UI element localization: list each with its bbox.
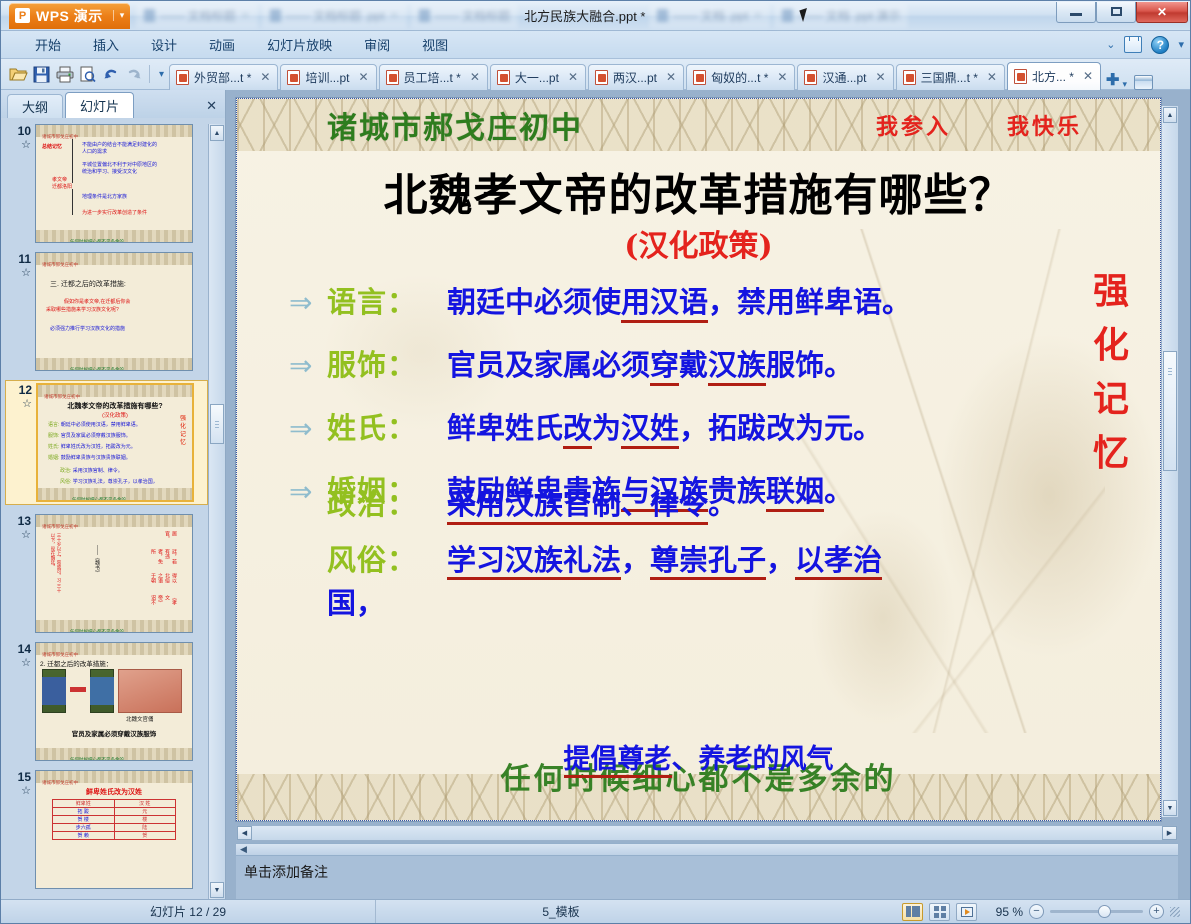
status-view-controls: 95 % − + — [902, 903, 1190, 921]
thumb-14-heading: 2. 迁都之后的改革措施： — [40, 658, 112, 668]
powerpoint-file-icon — [903, 70, 916, 85]
thumb-10-line-5: 为进一步实行改革创造了条件 — [82, 209, 147, 216]
navigator-tab-strip: 大纲 幻灯片 ✕ — [1, 90, 225, 118]
notes-placeholder[interactable]: 单击添加备注 — [236, 856, 1178, 899]
underlined-phrase: 穿 — [650, 348, 679, 386]
thumbnail-11-number: 11 — [18, 252, 31, 266]
thumbnail-15-preview[interactable]: 诸城市郝戈庄初中 鲜卑姓氏改为汉姓 鲜卑姓 汉 姓 拓 跋 — [35, 770, 193, 889]
background-tab-3[interactable]: —— 文档标题 — [411, 4, 518, 28]
thumb-15-r0c0: 拓 跋 — [53, 808, 115, 815]
thumbnail-14-preview[interactable]: 诸城市郝戈庄初中 2. 迁都之后的改革措施： 北魏文官俑 官员及家 — [35, 642, 193, 761]
thumbnail-10-number: 10 — [18, 124, 31, 138]
scroll-left-icon[interactable]: ◀ — [237, 826, 252, 840]
status-template-name: 5_模板 — [376, 900, 746, 923]
thumb-15-heading: 鲜卑姓氏改为汉姓 — [36, 787, 192, 797]
close-icon[interactable]: ✕ — [564, 70, 578, 84]
collapse-left-icon[interactable]: ◀ — [240, 844, 247, 855]
bullet-row-surname[interactable]: ⇒ 姓氏： 鲜卑姓氏改为汉姓，拓跋改为元。 — [289, 405, 1040, 447]
thumb-band-school: 诸城市郝戈庄初中 — [36, 262, 78, 267]
doc-tab-5[interactable]: 匈奴的...t * ✕ — [686, 64, 795, 90]
vertical-char-1: 化 — [1093, 324, 1129, 366]
thumbnail-13-meta: 13 ☆ — [5, 514, 35, 542]
new-document-caret-icon[interactable]: ▾ — [1122, 79, 1131, 90]
slide-plain-rows[interactable]: 政治： 采用汉族官制、律令。 风俗： 学习汉族礼法，尊崇孔子，以孝治 国， — [289, 481, 1040, 636]
bullet-label-clothing: 服饰： — [327, 342, 447, 384]
toolbar-overflow-icon[interactable]: ▾ — [154, 69, 169, 80]
background-tab-4[interactable]: —— 文档 .ppt ✕ — [649, 4, 770, 28]
zoom-in-button[interactable]: + — [1149, 904, 1164, 919]
thumb-15-r1c1: 楼 — [115, 816, 176, 823]
vertical-char-0: 强 — [1093, 270, 1129, 312]
thumb-band-bottom: 任何时候细心都不是多余的 — [38, 488, 192, 500]
background-window-tabs: —— 文档标题 ✕ —— 文档标题 .ppt ✕ —— 文档标题 北方民族大融合… — [130, 3, 1056, 29]
wps-badge-icon: P — [15, 8, 30, 23]
background-tab-2[interactable]: —— 文档标题 .ppt ✕ — [262, 4, 407, 28]
row-label-custom: 风俗： — [327, 537, 447, 579]
thumb-12-row-4-text: 采用汉族官制、律令。 — [73, 468, 123, 474]
thumbnail-item-12-selected[interactable]: 12 ☆ 诸城市郝戈庄初中 北魏孝文帝的改革措施有哪些? (汉化政策) 语言: … — [5, 380, 208, 505]
thumb-10-line-4: 地理条件是北方家族 — [82, 193, 127, 200]
animation-star-icon: ☆ — [6, 397, 32, 411]
zoom-slider[interactable] — [1050, 910, 1143, 913]
background-tab-2-label: —— 文档标题 .ppt — [286, 7, 385, 24]
thumb-15-r0c1: 元 — [115, 808, 176, 815]
powerpoint-file-icon — [1014, 69, 1027, 84]
close-icon[interactable]: ✕ — [753, 9, 762, 22]
close-icon[interactable]: ✕ — [983, 70, 997, 84]
animation-star-icon: ☆ — [5, 138, 31, 152]
slide-footer-blue-text[interactable]: 提倡尊老、养老的风气 — [237, 737, 1160, 776]
close-button[interactable]: ✕ — [1136, 2, 1188, 23]
thumbnail-13-number: 13 — [18, 514, 31, 528]
thumb-15-r2c1: 陆 — [115, 824, 176, 831]
slide-sorter-icon[interactable] — [929, 903, 950, 921]
bullet-text-language: 朝廷中必须使用汉语，禁用鲜卑语。 — [447, 279, 911, 321]
slide-canvas-area: 诸城市郝戈庄初中 我参入 我快乐 北魏孝文帝的改革措施有哪些？ (汉化政策) ⇒… — [226, 90, 1190, 825]
normal-view-icon[interactable] — [902, 903, 923, 921]
underlined-phrase: 改 — [563, 411, 592, 449]
thumb-12-row-0-text: 朝廷中必须使用汉语，禁用鲜卑语。 — [61, 422, 141, 428]
background-tab-1-label: —— 文档标题 — [160, 7, 235, 24]
vertical-char-3: 忆 — [1093, 432, 1129, 474]
thumbnail-item-15[interactable]: 15 ☆ 诸城市郝戈庄初中 鲜卑姓氏改为汉姓 — [5, 770, 208, 889]
scroll-up-icon[interactable]: ▲ — [210, 125, 224, 141]
thumbnail-item-11[interactable]: 11 ☆ 诸城市郝戈庄初中 三. 迁都之后的改革措施: 假如你是孝文帝,在迁都后… — [5, 252, 208, 371]
thumb-10-line-3: 统治和学习、接受汉文化 — [82, 168, 137, 175]
thumb-13-col-0: 《孝文帝》诏不 — [150, 595, 178, 607]
thumb-15-r3c0: 贺 赖 — [53, 832, 115, 839]
thumbnail-10-preview[interactable]: 诸城市郝戈庄初中 总结记忆 不能由户的结合不能满足封建化的 人口的需求 平城位置… — [35, 124, 193, 243]
thumb-13-source: ——《魏书》 — [94, 545, 101, 575]
maximize-button[interactable] — [1096, 2, 1136, 23]
quick-access-toolbar-row: ▾ 外贸部...t * ✕ 培训...pt ✕ 员工培...t * ✕ 大一..… — [1, 59, 1190, 90]
thumbnail-12-preview[interactable]: 诸城市郝戈庄初中 北魏孝文帝的改革措施有哪些? (汉化政策) 语言: 朝廷中必须… — [36, 383, 194, 502]
doc-tab-3[interactable]: 大一...pt ✕ — [490, 64, 586, 90]
wps-app-logo-button[interactable]: P WPS 演示 ▾ — [9, 3, 130, 29]
arrow-right-icon: ⇒ — [289, 352, 327, 380]
thumb-14-caption-right: 北魏文官俑 — [126, 715, 154, 723]
thumb-band-bottom: 任何时候细心都不是多余的 — [36, 748, 192, 760]
scroll-up-icon[interactable]: ▲ — [1163, 107, 1177, 123]
scroll-right-icon[interactable]: ▶ — [1162, 826, 1177, 840]
animation-star-icon: ☆ — [5, 266, 31, 280]
thumbnail-item-13[interactable]: 13 ☆ 诸城市郝戈庄初中 《孝文帝》诏不 得以北俗之语于朝 — [5, 514, 208, 633]
thumb-12-row-3-label: 婚姻: — [48, 455, 59, 461]
skin-shirt-icon[interactable] — [1124, 36, 1142, 53]
thumb-14-caption-bottom: 官员及家属必须穿戴汉族服饰 — [36, 728, 192, 738]
window-controls: ✕ — [1056, 1, 1188, 31]
thumb-12-row-3-text: 鼓励鲜卑贵族与汉族贵族联姻。 — [61, 455, 131, 461]
underlined-phrase: 采用汉族官制、律令 — [447, 487, 708, 525]
thumb-10-line-2: 平城位置偏北不利于对中原地区的 — [82, 161, 157, 168]
thumb-band-top: 诸城市郝戈庄初中 — [36, 771, 192, 783]
row-politics[interactable]: 政治： 采用汉族官制、律令。 — [289, 481, 1040, 523]
row-label-politics: 政治： — [327, 481, 447, 523]
menu-item-review[interactable]: 审阅 — [348, 32, 406, 58]
slide-vertical-scrollbar[interactable]: ▲ ▼ — [1161, 106, 1178, 817]
scrollbar-thumb[interactable] — [1163, 351, 1177, 471]
thumb-12-row-2-label: 姓氏: — [48, 444, 59, 450]
thumb-12-row-0-label: 语言: — [48, 422, 59, 428]
bullet-row-language[interactable]: ⇒ 语言： 朝廷中必须使用汉语，禁用鲜卑语。 — [289, 279, 1040, 321]
powerpoint-file-icon — [176, 70, 189, 85]
scroll-down-icon[interactable]: ▼ — [1163, 800, 1177, 816]
slide-editor-stage: 诸城市郝戈庄初中 我参入 我快乐 北魏孝文帝的改革措施有哪些？ (汉化政策) ⇒… — [226, 90, 1190, 899]
thumb-13-col-2: 廷，若有违者，免所 — [150, 549, 178, 565]
title-bar: P WPS 演示 ▾ —— 文档标题 ✕ —— 文档标题 .ppt ✕ —— 文… — [1, 1, 1190, 31]
thumb-15-r2c0: 步六孤 — [53, 824, 115, 831]
menu-item-insert[interactable]: 插入 — [77, 32, 135, 58]
thumb-band-top: 诸城市郝戈庄初中 — [36, 643, 192, 655]
bullet-label-surname: 姓氏： — [327, 405, 447, 447]
thumbnail-12-meta: 12 ☆ — [6, 383, 36, 411]
thumb-15-th-0: 鲜卑姓 — [53, 800, 115, 807]
zoom-level-label: 95 % — [983, 905, 1023, 919]
doc-tab-3-label: 大一...pt — [515, 69, 559, 86]
slide-horizontal-scrollbar[interactable]: ◀ ▶ — [236, 825, 1178, 841]
powerpoint-file-icon — [386, 70, 399, 85]
thumb-15-r3c1: 贺 — [115, 832, 176, 839]
thumb-band-footer: 任何时候细心都不是多余的 — [38, 497, 126, 502]
doc-tab-7[interactable]: 三国鼎...t * ✕ — [896, 64, 1005, 90]
doc-tab-6-label: 汉通...pt — [822, 69, 866, 86]
animation-star-icon: ☆ — [5, 656, 31, 670]
close-icon[interactable]: ✕ — [354, 70, 368, 84]
thumb-band-school: 诸城市郝戈庄初中 — [36, 524, 78, 529]
thumb-12-row-1-label: 服饰: — [48, 433, 59, 439]
slide-navigator-pane: 大纲 幻灯片 ✕ 10 ☆ 诸城市郝戈庄 — [1, 90, 226, 899]
doc-tab-7-label: 三国鼎...t * — [921, 69, 978, 86]
row-text-custom-line1: 学习汉族礼法，尊崇孔子，以孝治 — [447, 537, 882, 580]
thumb-12-vertical-text: 强化记忆 — [180, 415, 186, 447]
undo-icon[interactable] — [99, 63, 122, 86]
notes-splitter[interactable]: ◀ — [236, 843, 1178, 856]
doc-tab-0[interactable]: 外贸部...t * ✕ — [169, 64, 278, 90]
thumb-11-line-1: 采取哪些措施来学习汉族文化呢? — [46, 306, 119, 313]
close-icon[interactable]: ✕ — [206, 98, 217, 114]
minimize-button[interactable] — [1056, 2, 1096, 23]
thumb-10-line-0: 不能由户的结合不能满足封建化的 — [82, 141, 157, 148]
thumbnail-item-10[interactable]: 10 ☆ 诸城市郝戈庄初中 总结记忆 不能由户的结合不能满足封建化的 人口的需求 — [5, 124, 208, 243]
thumb-10-center-label: 孝文帝 迁都洛阳 — [52, 177, 72, 191]
doc-tab-4[interactable]: 两汉...pt ✕ — [588, 64, 684, 90]
document-icon — [782, 9, 793, 22]
zoom-slider-handle[interactable] — [1098, 905, 1111, 918]
doc-tab-0-label: 外贸部...t * — [194, 69, 251, 86]
thumb-15-r1c0: 贺 楼 — [53, 816, 115, 823]
underlined-phrase: 汉姓 — [621, 411, 679, 449]
slide-subtitle[interactable]: (汉化政策) — [237, 221, 1160, 265]
bullet-text-clothing: 官员及家属必须穿戴汉族服饰。 — [447, 342, 853, 384]
background-tab-1[interactable]: —— 文档标题 ✕ — [136, 4, 258, 28]
thumb-band-footer: 任何时候细心都不是多余的 — [36, 367, 124, 371]
help-icon[interactable]: ? — [1151, 36, 1169, 54]
close-icon[interactable]: ✕ — [241, 9, 250, 22]
thumb-band-bottom: 任何时候细心都不是多余的 — [36, 358, 192, 370]
thumbnail-strip[interactable]: 10 ☆ 诸城市郝戈庄初中 总结记忆 不能由户的结合不能满足封建化的 人口的需求 — [1, 118, 225, 899]
scroll-down-icon[interactable]: ▼ — [210, 882, 224, 898]
header-right-text-1[interactable]: 我参入 — [876, 109, 951, 141]
menu-item-slideshow[interactable]: 幻灯片放映 — [251, 32, 348, 58]
resize-grip-icon[interactable] — [1170, 907, 1180, 917]
thumb-12-row-5-text: 学习汉族礼法，尊崇孔子，以孝治国， — [73, 479, 158, 485]
background-tab-5[interactable]: —— 文档 .ppt 演示 — [774, 4, 908, 28]
thumbnail-10-meta: 10 ☆ — [5, 124, 35, 152]
notes-pane[interactable]: ◀ 单击添加备注 — [236, 843, 1178, 899]
thumb-15-th-1: 汉 姓 — [115, 800, 176, 807]
menu-item-start[interactable]: 开始 — [19, 32, 77, 58]
thumbnail-14-number: 14 — [18, 642, 31, 656]
slide-title[interactable]: 北魏孝文帝的改革措施有哪些？ — [237, 159, 1160, 223]
thumb-band-school: 诸城市郝戈庄初中 — [36, 652, 78, 657]
thumb-band-top: 诸城市郝戈庄初中 — [36, 515, 192, 527]
doc-tab-6[interactable]: 汉通...pt ✕ — [797, 64, 893, 90]
thumbnail-scrollbar[interactable]: ▲ ▼ — [208, 124, 225, 899]
help-dropdown-caret-icon[interactable]: ▾ — [1178, 38, 1184, 51]
thumb-band-footer: 任何时候细心都不是多余的 — [36, 629, 124, 633]
thumb-10-line-1: 人口的需求 — [82, 148, 107, 155]
document-tab-bar: 外贸部...t * ✕ 培训...pt ✕ 员工培...t * ✕ 大一...p… — [169, 59, 1190, 90]
thumbnail-11-preview[interactable]: 诸城市郝戈庄初中 三. 迁都之后的改革措施: 假如你是孝文帝,在迁都后你会 采取… — [35, 252, 193, 371]
thumb-12-sub: (汉化政策) — [38, 411, 192, 419]
powerpoint-file-icon — [595, 70, 608, 85]
scrollbar-thumb[interactable] — [210, 404, 224, 444]
doc-tab-1[interactable]: 培训...pt ✕ — [280, 64, 376, 90]
powerpoint-file-icon — [497, 70, 510, 85]
thumb-12-row-4-label: 政治: — [60, 468, 71, 474]
thumb-band-top: 诸城市郝戈庄初中 — [36, 253, 192, 265]
document-icon — [270, 9, 281, 22]
document-icon — [419, 9, 430, 22]
thumb-12-row-2-text: 鲜卑姓氏改为汉姓，拓跋改为元。 — [61, 444, 136, 450]
slideshow-icon[interactable] — [956, 903, 977, 921]
doc-tab-2-label: 员工培...t * — [404, 69, 461, 86]
vertical-char-2: 记 — [1093, 378, 1129, 420]
close-icon[interactable]: ✕ — [773, 70, 787, 84]
thumb-band-school: 诸城市郝戈庄初中 — [38, 394, 80, 399]
doc-tab-2[interactable]: 员工培...t * ✕ — [379, 64, 488, 90]
redo-icon — [122, 63, 145, 86]
menubar-right-controls: ⌄ ? ▾ — [1106, 36, 1184, 54]
thumb-band-footer: 任何时候细心都不是多余的 — [36, 239, 124, 243]
close-icon[interactable]: ✕ — [1079, 69, 1093, 83]
wps-app-name: WPS 演示 — [36, 6, 103, 26]
tab-slides[interactable]: 幻灯片 — [65, 92, 134, 118]
doc-tab-4-label: 两汉...pt — [613, 69, 657, 86]
save-icon[interactable] — [30, 63, 53, 86]
tab-outline[interactable]: 大纲 — [7, 94, 63, 118]
toolbar-separator — [149, 65, 150, 83]
thumb-12-heading: 北魏孝文帝的改革措施有哪些? — [38, 401, 192, 411]
doc-tab-8-active[interactable]: 北方... * ✕ — [1007, 62, 1101, 90]
header-right-text-2[interactable]: 我快乐 — [1007, 109, 1082, 141]
menu-item-animation[interactable]: 动画 — [193, 32, 251, 58]
status-bar: 幻灯片 12 / 29 5_模板 95 % − + — [1, 899, 1190, 923]
background-tab-5-label: —— 文档 .ppt 演示 — [798, 7, 900, 24]
powerpoint-file-icon — [804, 70, 817, 85]
close-icon[interactable]: ✕ — [872, 70, 886, 84]
document-icon — [657, 9, 668, 22]
bullet-row-clothing[interactable]: ⇒ 服饰： 官员及家属必须穿戴汉族服饰。 — [289, 342, 1040, 384]
thumb-11-heading: 三. 迁都之后的改革措施: — [50, 279, 126, 289]
print-preview-icon[interactable] — [76, 63, 99, 86]
thumb-band-top: 诸城市郝戈庄初中 — [36, 125, 192, 137]
background-tab-4-label: —— 文档 .ppt — [673, 7, 748, 24]
main-area: 大纲 幻灯片 ✕ 10 ☆ 诸城市郝戈庄 — [1, 90, 1190, 899]
slide-header: 诸城市郝戈庄初中 我参入 我快乐 — [237, 99, 1160, 151]
animation-star-icon: ☆ — [5, 528, 31, 542]
close-icon[interactable]: ✕ — [466, 70, 480, 84]
document-icon — [144, 9, 155, 22]
status-slide-counter: 幻灯片 12 / 29 — [1, 900, 376, 923]
bullet-text-surname: 鲜卑姓氏改为汉姓，拓跋改为元。 — [447, 405, 882, 447]
menu-bar: 开始 插入 设计 动画 幻灯片放映 审阅 视图 ⌄ ? ▾ — [1, 31, 1190, 59]
thumb-13-note: 三十岁以上，容或可，习 三十以下，现在朝廷。 — [50, 533, 62, 593]
vertical-emphasis-text[interactable]: 强 化 记 忆 — [1088, 264, 1134, 480]
thumb-10-heading: 总结记忆 — [42, 143, 62, 150]
underlined-phrase: 汉族 — [708, 348, 766, 386]
thumb-13-col-1: 得以北俗之语于朝 — [150, 573, 178, 587]
thumbnail-11-meta: 11 ☆ — [5, 252, 35, 280]
thumb-11-line-0: 假如你是孝文帝,在迁都后你会 — [64, 298, 130, 305]
thumb-11-line-2: 必须强力推行学习汉族文化的措施 — [50, 325, 125, 332]
school-name-text[interactable]: 诸城市郝戈庄初中 — [327, 103, 583, 147]
thumb-band-bottom: 任何时候细心都不是多余的 — [36, 230, 192, 242]
close-icon[interactable]: ✕ — [662, 70, 676, 84]
thumbnail-13-preview[interactable]: 诸城市郝戈庄初中 《孝文帝》诏不 得以北俗之语于朝 廷，若有违者，免所 居官。 … — [35, 514, 193, 633]
menu-item-design[interactable]: 设计 — [135, 32, 193, 58]
thumb-12-row-5-label: 风俗: — [60, 479, 71, 485]
print-icon[interactable] — [53, 63, 76, 86]
zoom-out-button[interactable]: − — [1029, 904, 1044, 919]
thumbnail-12-number: 12 — [19, 383, 32, 397]
chevron-down-icon[interactable]: ⌄ — [1106, 38, 1115, 51]
powerpoint-file-icon — [693, 70, 706, 85]
doc-tab-8-label: 北方... * — [1032, 68, 1074, 85]
window-title: 北方民族大融合.ppt * — [524, 6, 645, 25]
wps-presentation-window: P WPS 演示 ▾ —— 文档标题 ✕ —— 文档标题 .ppt ✕ —— 文… — [0, 0, 1191, 924]
thumbnail-15-meta: 15 ☆ — [5, 770, 35, 798]
window-switch-icon[interactable] — [1134, 75, 1153, 90]
row-custom[interactable]: 风俗： 学习汉族礼法，尊崇孔子，以孝治 国， — [289, 537, 1040, 622]
arrow-right-icon: ⇒ — [289, 415, 327, 443]
powerpoint-file-icon — [287, 70, 300, 85]
thumb-13-col-3: 居官。 — [150, 531, 178, 541]
thumb-band-school: 诸城市郝戈庄初中 — [36, 780, 78, 785]
thumb-12-row-1-text: 官员及家属必须穿戴汉族服饰。 — [61, 433, 131, 439]
row-text-custom-line2: 国， — [327, 580, 1040, 622]
arrow-right-icon: ⇒ — [289, 289, 327, 317]
background-tab-3-label: —— 文档标题 — [435, 7, 510, 24]
new-document-button[interactable]: ✚ — [1103, 70, 1122, 90]
thumb-band-footer: 任何时候细心都不是多余的 — [36, 757, 124, 761]
thumbnail-14-meta: 14 ☆ — [5, 642, 35, 670]
thumbnail-15-number: 15 — [18, 770, 31, 784]
doc-tab-5-label: 匈奴的...t * — [711, 69, 768, 86]
row-text-politics: 采用汉族官制、律令。 — [447, 481, 737, 523]
animation-star-icon: ☆ — [5, 784, 31, 798]
close-icon[interactable]: ✕ — [256, 70, 270, 84]
chevron-down-icon[interactable]: ▾ — [113, 10, 125, 21]
doc-tab-1-label: 培训...pt — [305, 69, 349, 86]
thumb-band-bottom: 任何时候细心都不是多余的 — [36, 620, 192, 632]
menu-item-view[interactable]: 视图 — [406, 32, 464, 58]
minimize-icon — [1070, 13, 1082, 16]
open-folder-icon[interactable] — [7, 63, 30, 86]
bullet-label-language: 语言： — [327, 279, 447, 321]
close-icon[interactable]: ✕ — [390, 9, 399, 22]
underlined-phrase: 用汉语 — [621, 285, 708, 323]
slide-canvas[interactable]: 诸城市郝戈庄初中 我参入 我快乐 北魏孝文帝的改革措施有哪些？ (汉化政策) ⇒… — [236, 98, 1161, 821]
thumbnail-item-14[interactable]: 14 ☆ 诸城市郝戈庄初中 2. 迁都之后的改革措施： — [5, 642, 208, 761]
maximize-icon — [1111, 7, 1122, 16]
thumb-band-top: 诸城市郝戈庄初中 — [38, 385, 192, 397]
